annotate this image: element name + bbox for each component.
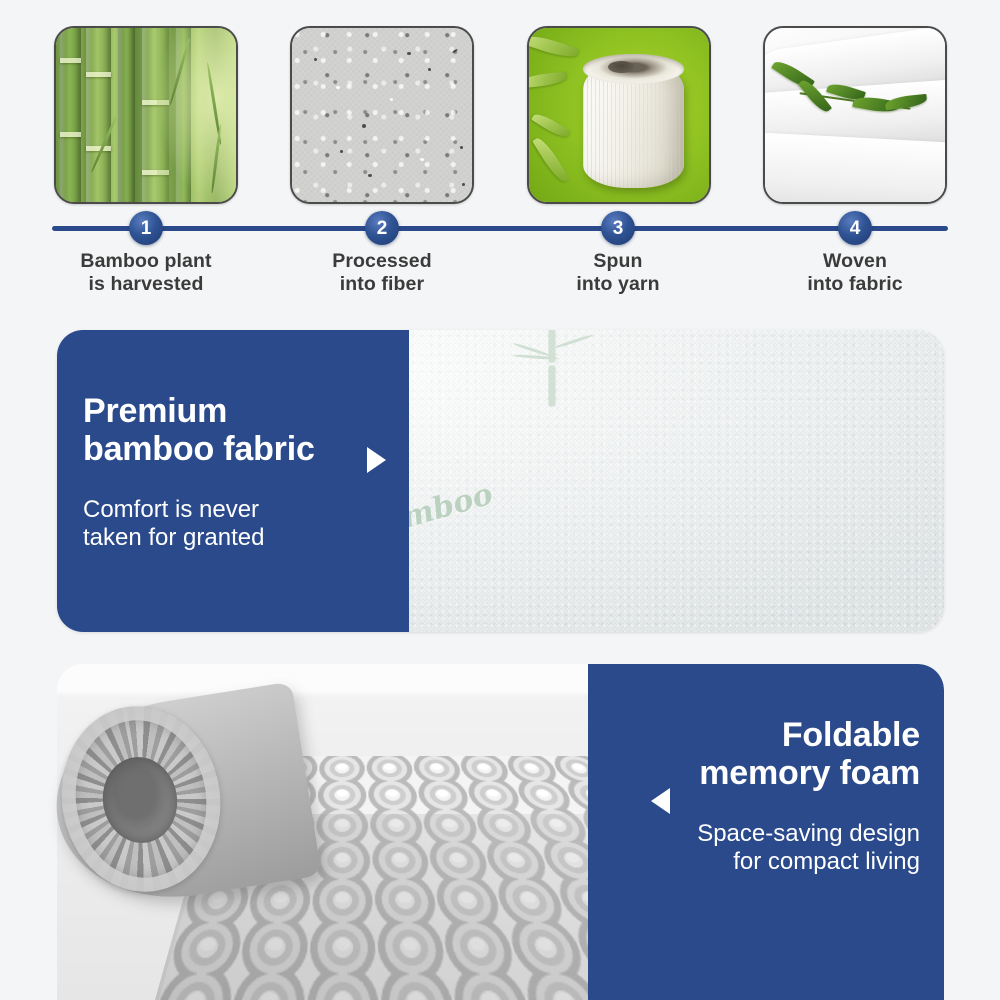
fabric-headline-line1: Premium (83, 392, 413, 430)
foam-headline-line1: Foldable (610, 716, 920, 754)
step-caption-3-line2: into yarn (503, 273, 733, 296)
step-number-4: 4 (838, 211, 872, 245)
step-caption-4: Woven into fabric (740, 250, 970, 295)
fiber-texture-art (292, 28, 472, 202)
step-caption-4-line2: into fabric (740, 273, 970, 296)
fabric-headline-line2: bamboo fabric (83, 430, 413, 468)
fabric-panel-subline: Comfort is never taken for granted (83, 496, 383, 552)
foam-subline-line1: Space-saving design (600, 820, 920, 848)
play-right-icon (367, 447, 386, 473)
foam-panel-headline: Foldable memory foam (610, 716, 920, 792)
fabric-bamboo-motif-2 (509, 330, 599, 414)
step-number-2: 2 (365, 211, 399, 245)
process-image-processed-fiber (290, 26, 474, 204)
fabric-panel-blue-block: Premium bamboo fabric Comfort is never t… (57, 330, 409, 632)
step-caption-1-line1: Bamboo plant (31, 250, 261, 273)
bamboo-grove-art (56, 28, 236, 202)
step-caption-2-line1: Processed (267, 250, 497, 273)
fabric-subline-line2: taken for granted (83, 524, 383, 552)
step-caption-4-line1: Woven (740, 250, 970, 273)
step-number-3: 3 (601, 211, 635, 245)
process-image-bamboo-plant (54, 26, 238, 204)
step-caption-2: Processed into fiber (267, 250, 497, 295)
fabric-panel-headline: Premium bamboo fabric (83, 392, 413, 468)
premium-bamboo-fabric-panel: Bamboo Bamboo Premium bamboo (57, 330, 944, 632)
process-thumbnail-row (0, 26, 1000, 206)
yarn-cone-art (529, 28, 709, 202)
step-caption-1-line2: is harvested (31, 273, 261, 296)
woven-fabric-art (765, 28, 945, 202)
step-caption-1: Bamboo plant is harvested (31, 250, 261, 295)
step-number-1: 1 (129, 211, 163, 245)
foam-panel-blue-block: Foldable memory foam Space-saving design… (588, 664, 944, 1000)
fabric-subline-line1: Comfort is never (83, 496, 383, 524)
process-timeline-line (52, 226, 948, 231)
foam-subline-line2: for compact living (600, 848, 920, 876)
step-caption-3: Spun into yarn (503, 250, 733, 295)
foam-headline-line2: memory foam (610, 754, 920, 792)
step-caption-3-line1: Spun (503, 250, 733, 273)
bamboo-process-section: 1 2 3 4 Bamboo plant is harvested Proces… (0, 0, 1000, 312)
step-caption-2-line2: into fiber (267, 273, 497, 296)
foam-panel-subline: Space-saving design for compact living (600, 820, 920, 876)
play-left-icon (651, 788, 670, 814)
process-image-spun-yarn (527, 26, 711, 204)
process-image-woven-fabric (763, 26, 947, 204)
